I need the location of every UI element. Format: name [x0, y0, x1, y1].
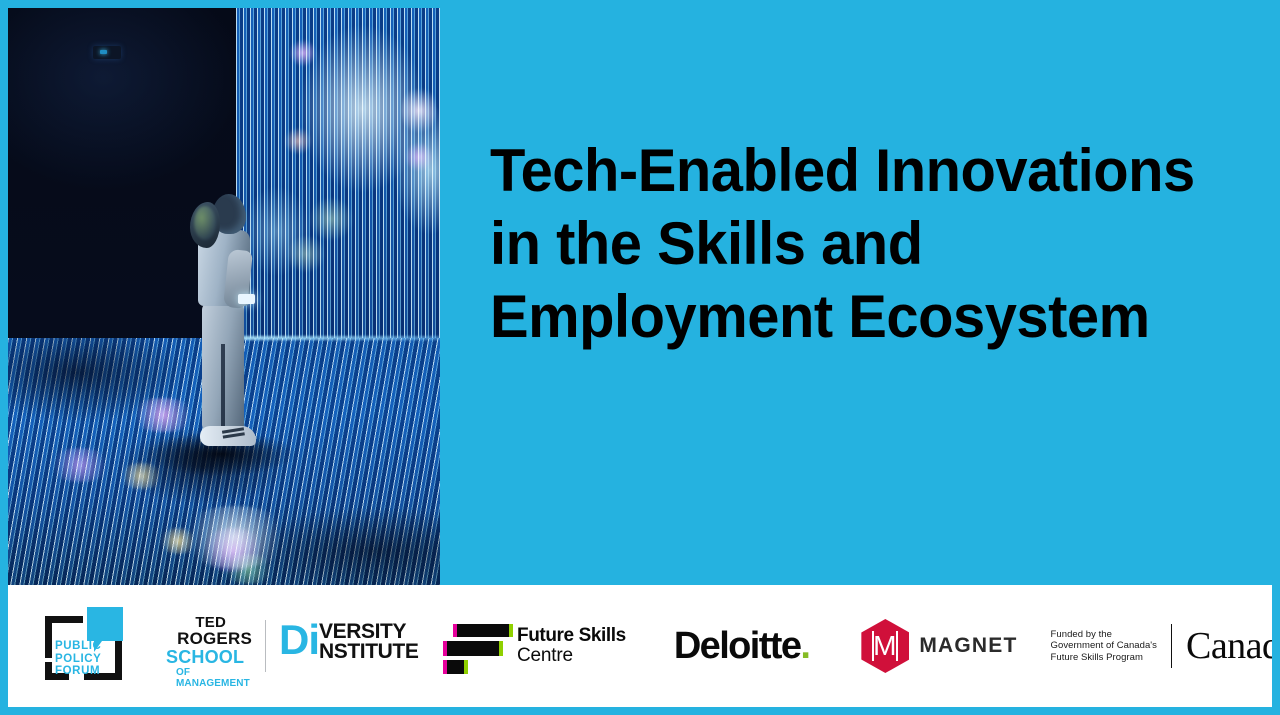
person-leg-split — [221, 344, 225, 430]
canada-wordmark: Canada — [1186, 626, 1272, 666]
logo-ted-rogers-school[interactable]: TED ROGERS SCHOOL OF MANAGEMENT — [166, 615, 252, 677]
funded-by-text: Funded by the Government of Canada's Fut… — [1051, 629, 1157, 664]
page-title: Tech-Enabled Innovations in the Skills a… — [490, 134, 1204, 353]
trsm-line-rogers: ROGERS — [166, 630, 252, 648]
ppf-bracket — [45, 616, 83, 623]
trsm-line-of-management: OF MANAGEMENT — [166, 667, 252, 689]
photo-floor-flower — [48, 448, 112, 482]
speech-bubble-icon — [87, 607, 123, 641]
ppf-wordmark: PUBLIC POLICY FORUM — [55, 640, 101, 678]
fsc-line-2: Centre — [517, 646, 626, 666]
photo-person — [176, 194, 286, 469]
photo-floor-flower — [158, 528, 198, 554]
hero-section: Tech-Enabled Innovations in the Skills a… — [8, 8, 1272, 585]
hero-photo — [8, 8, 440, 585]
photo-floor-flower — [220, 554, 276, 584]
photo-flower — [286, 236, 326, 272]
magnet-hexagon-icon: M — [861, 619, 909, 673]
canada-divider — [1171, 624, 1172, 668]
fsc-mark-icon — [441, 622, 509, 670]
deloitte-text: Deloitte — [674, 625, 801, 667]
fsc-line-1: Future Skills — [517, 626, 626, 646]
logo-future-skills-centre[interactable]: Future Skills Centre — [441, 622, 626, 670]
magnet-wordmark: MAGNET — [919, 634, 1017, 658]
trsm-line-ted: TED — [166, 615, 252, 630]
projector-icon — [93, 46, 121, 59]
person-phone — [238, 294, 255, 304]
photo-flower — [308, 198, 354, 240]
di-prefix: Di — [279, 621, 319, 659]
photo-flower — [402, 83, 436, 138]
photo-floor-flower — [118, 463, 164, 489]
fsc-bar — [457, 624, 509, 637]
magnet-m-letter: M — [861, 619, 909, 673]
logo-government-of-canada[interactable]: Funded by the Government of Canada's Fut… — [1051, 624, 1272, 668]
logo-diversity-institute[interactable]: Di VERSITY NSTITUTE — [279, 621, 399, 671]
deloitte-wordmark: Deloitte. — [674, 626, 810, 666]
photo-flower — [406, 140, 432, 174]
photo-flower — [283, 128, 313, 154]
logo-magnet[interactable]: M MAGNET — [861, 619, 1017, 673]
slide-inner: Tech-Enabled Innovations in the Skills a… — [8, 8, 1272, 707]
logo-public-policy-forum[interactable]: PUBLIC POLICY FORUM — [41, 604, 131, 688]
partner-logo-bar: PUBLIC POLICY FORUM TED ROGERS SCHOOL OF… — [8, 585, 1272, 707]
fsc-bar — [447, 641, 499, 656]
canada-text: Canada — [1186, 625, 1272, 667]
logo-divider — [265, 620, 266, 672]
title-block: Tech-Enabled Innovations in the Skills a… — [490, 134, 1230, 353]
fsc-wordmark: Future Skills Centre — [517, 626, 626, 666]
di-words: VERSITY NSTITUTE — [319, 621, 418, 661]
fsc-bar — [447, 660, 464, 674]
deloitte-dot: . — [800, 625, 809, 667]
trsm-line-school: SCHOOL — [166, 648, 252, 667]
person-hair-highlight — [194, 206, 216, 240]
logo-deloitte[interactable]: Deloitte. — [674, 626, 810, 666]
photo-flower — [290, 38, 316, 68]
person-shoe — [200, 426, 256, 446]
di-row: Di VERSITY NSTITUTE — [279, 621, 399, 661]
slide-frame: Tech-Enabled Innovations in the Skills a… — [0, 0, 1280, 715]
